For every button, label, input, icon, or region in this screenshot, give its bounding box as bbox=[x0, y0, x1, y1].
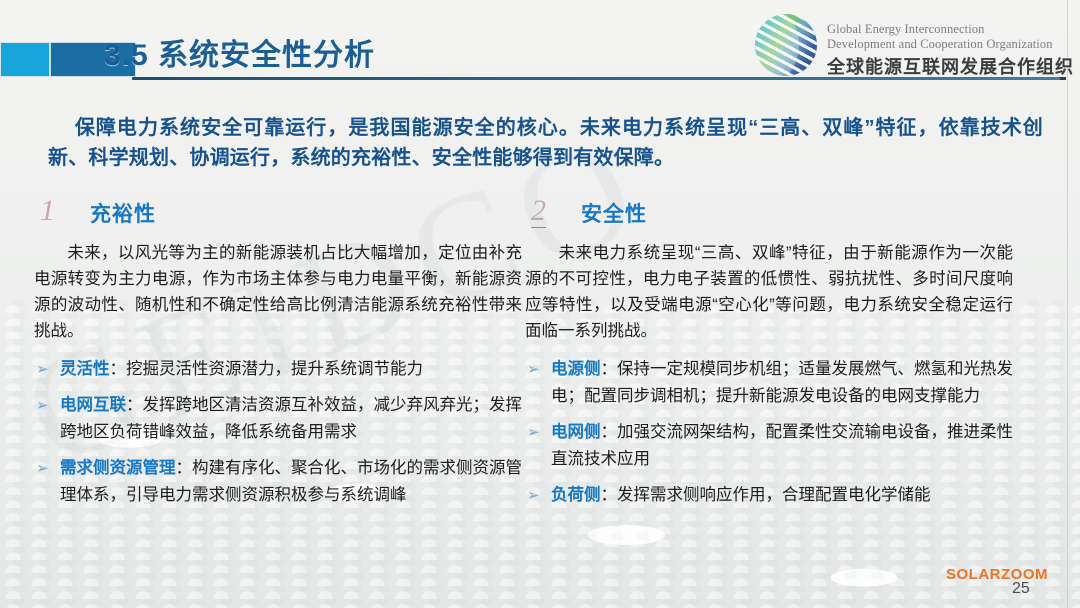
section-number: 2 bbox=[531, 196, 546, 228]
section-paragraph: 未来电力系统呈现“三高、双峰”特征，由于新能源作为一次能源的不可控性，电力电子装… bbox=[525, 240, 1013, 344]
bullet-term: 电网侧 bbox=[551, 423, 601, 441]
slide-header: 3.5 系统安全性分析 Global Energy Interconnectio… bbox=[0, 0, 1080, 92]
page-number: 25 bbox=[1012, 580, 1030, 598]
section-paragraph: 未来，以风光等为主的新能源装机占比大幅增加，定位由补充电源转变为主力电源，作为市… bbox=[34, 240, 522, 344]
bullet-text: ：挖掘灵活性资源潜力，提升系统调节能力 bbox=[110, 360, 424, 378]
bullet-arrow-icon: ➢ bbox=[36, 455, 49, 482]
bullet-arrow-icon: ➢ bbox=[527, 419, 540, 446]
logo-chinese-name: 全球能源互联网发展合作组织 bbox=[827, 53, 1074, 79]
bullet-list: ➢ 电源侧：保持一定规模同步机组；适量发展燃气、燃氢和光热发电；配置同步调相机；… bbox=[525, 356, 1013, 509]
bullet-text: ：加强交流网架结构，配置柔性交流输电设备，推进柔性直流技术应用 bbox=[551, 423, 1013, 468]
section-column-adequacy: 1 充裕性 未来，以风光等为主的新能源装机占比大幅增加，定位由补充电源转变为主力… bbox=[34, 198, 522, 518]
bullet-term: 电源侧 bbox=[551, 360, 601, 378]
list-item: ➢ 负荷侧：发挥需求侧响应作用，合理配置电化学储能 bbox=[525, 482, 1013, 509]
slide-canvas: GEIDCO 3.5 系统安全性分析 Global Energy Interco… bbox=[0, 0, 1080, 608]
bullet-text: ：发挥需求侧响应作用，合理配置电化学储能 bbox=[601, 486, 931, 504]
bullet-arrow-icon: ➢ bbox=[527, 356, 540, 383]
bullet-term: 负荷侧 bbox=[551, 486, 601, 504]
section-number: 1 bbox=[40, 196, 55, 226]
bullet-term: 电网互联 bbox=[60, 396, 126, 414]
bullet-text: ：发挥跨地区清洁资源互补效益，减少弃风弃光；发挥跨地区负荷错峰效益，降低系统备用… bbox=[60, 396, 522, 441]
bullet-list: ➢ 灵活性：挖掘灵活性资源潜力，提升系统调节能力 ➢ 电网互联：发挥跨地区清洁资… bbox=[34, 356, 522, 509]
logo-english-line-2: Development and Cooperation Organization bbox=[827, 37, 1053, 52]
bullet-term: 灵活性 bbox=[60, 360, 110, 378]
list-item: ➢ 电源侧：保持一定规模同步机组；适量发展燃气、燃氢和光热发电；配置同步调相机；… bbox=[525, 356, 1013, 410]
section-paragraph-text: 未来电力系统呈现“三高、双峰”特征，由于新能源作为一次能源的不可控性，电力电子装… bbox=[525, 244, 1013, 340]
list-item: ➢ 电网侧：加强交流网架结构，配置柔性交流输电设备，推进柔性直流技术应用 bbox=[525, 419, 1013, 473]
list-item: ➢ 灵活性：挖掘灵活性资源潜力，提升系统调节能力 bbox=[34, 356, 522, 383]
lead-statement-text: 保障电力系统安全可靠运行，是我国能源安全的核心。未来电力系统呈现“三高、双峰”特… bbox=[48, 117, 1043, 169]
logo-english-line-1: Global Energy Interconnection bbox=[827, 22, 984, 37]
bullet-arrow-icon: ➢ bbox=[36, 392, 49, 419]
section-title: 充裕性 bbox=[90, 198, 156, 228]
section-title: 安全性 bbox=[581, 198, 647, 228]
lead-statement: 保障电力系统安全可靠运行，是我国能源安全的核心。未来电力系统呈现“三高、双峰”特… bbox=[48, 113, 1043, 173]
bullet-arrow-icon: ➢ bbox=[36, 356, 49, 383]
bullet-arrow-icon: ➢ bbox=[527, 482, 540, 509]
list-item: ➢ 电网互联：发挥跨地区清洁资源互补效益，减少弃风弃光；发挥跨地区负荷错峰效益，… bbox=[34, 392, 522, 446]
section-paragraph-text: 未来，以风光等为主的新能源装机占比大幅增加，定位由补充电源转变为主力电源，作为市… bbox=[34, 244, 522, 340]
globe-icon bbox=[755, 14, 817, 76]
section-heading: 1 充裕性 bbox=[34, 198, 522, 234]
list-item: ➢ 需求侧资源管理：构建有序化、聚合化、市场化的需求侧资源管理体系，引导电力需求… bbox=[34, 455, 522, 509]
bullet-text: ：保持一定规模同步机组；适量发展燃气、燃氢和光热发电；配置同步调相机；提升新能源… bbox=[551, 360, 1013, 405]
page-title: 3.5 系统安全性分析 bbox=[104, 30, 375, 74]
header-tab-cyan bbox=[0, 42, 50, 77]
section-heading: 2 安全性 bbox=[525, 198, 1013, 234]
section-column-security: 2 安全性 未来电力系统呈现“三高、双峰”特征，由于新能源作为一次能源的不可控性… bbox=[525, 198, 1013, 518]
bullet-term: 需求侧资源管理 bbox=[60, 459, 176, 477]
organization-logo: Global Energy Interconnection Developmen… bbox=[755, 10, 1071, 80]
solarzoom-watermark: SOLARZOOM bbox=[946, 566, 1048, 583]
